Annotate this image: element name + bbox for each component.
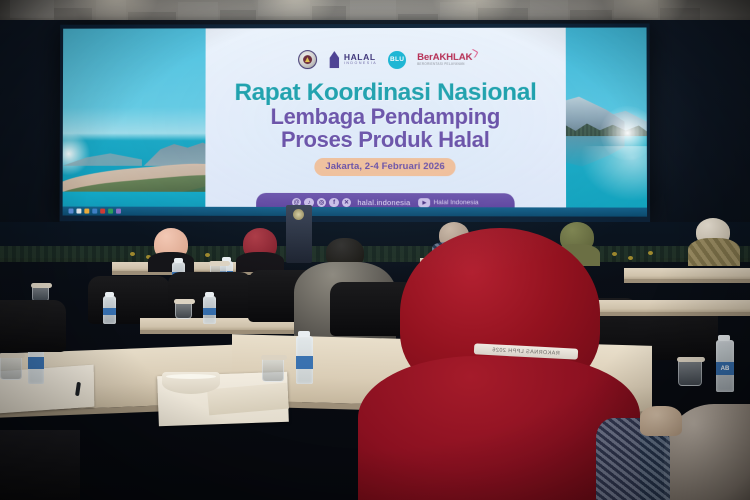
water-bottle: AB [716,340,734,392]
garuda-emblem-icon [298,50,317,69]
screen-content: HALAL INDONESIA BLU BerAKHLAK BERORIENTA… [63,27,647,216]
drinking-glass [678,360,702,386]
windows-taskbar [63,207,647,217]
halal-indonesia-logo: HALAL INDONESIA [328,51,377,68]
berakhlak-logo: BerAKHLAK BERORIENTASI PELAYANAN [417,53,472,67]
drinking-glass [262,358,284,382]
slide-logo-row: HALAL INDONESIA BLU BerAKHLAK BERORIENTA… [206,50,566,69]
chair-back-foreground [0,430,80,500]
bowl [162,372,220,394]
drinking-glass [0,356,22,380]
projection-screen: HALAL INDONESIA BLU BerAKHLAK BERORIENTA… [60,23,650,222]
social-handle: halal.indonesia [357,198,410,207]
berakhlak-sublabel: BERORIENTASI PELAYANAN [417,63,472,66]
facebook-icon: f [329,198,339,208]
conference-photo: HALAL INDONESIA BLU BerAKHLAK BERORIENTA… [0,0,750,500]
slide-title-line1: Rapat Koordinasi Nasional [206,80,566,105]
slide-left-landscape-image [63,28,214,215]
attendee-hijab-maroon [238,228,282,268]
lectern-emblem-icon [293,209,304,220]
slide-title-line2: Lembaga Pendamping [205,105,565,128]
x-twitter-icon: ✕ [342,198,352,208]
drinking-glass [175,302,192,319]
attendee-hijab-white-right [690,218,738,264]
berakhlak-label: BerAKHLAK [417,53,472,63]
youtube-icon: ▶ [418,198,430,207]
halal-logo-sublabel: INDONESIA [344,62,377,66]
instagram-icon: ◎ [317,198,326,208]
chair [0,300,66,352]
water-bottle [103,296,116,324]
chair [88,276,170,324]
slide-date-badge: Jakarta, 2-4 Februari 2026 [314,158,456,176]
slide-title-line3: Proses Produk Halal [205,128,566,151]
slide-title-block: Rapat Koordinasi Nasional Lembaga Pendam… [205,80,566,152]
youtube-channel-name: Halal Indonesia [434,199,479,206]
halal-mark-icon [328,51,341,68]
water-bottle [203,296,216,324]
bottle-label: AB [716,362,734,376]
blu-logo: BLU [388,50,406,68]
hand [640,406,682,436]
lanyard-text: RAKORNAS LPPH 2026 [492,347,560,357]
attendee-hijab-peach [150,228,192,268]
water-bottle [296,336,313,384]
slide-title-card: HALAL INDONESIA BLU BerAKHLAK BERORIENTA… [205,28,566,211]
